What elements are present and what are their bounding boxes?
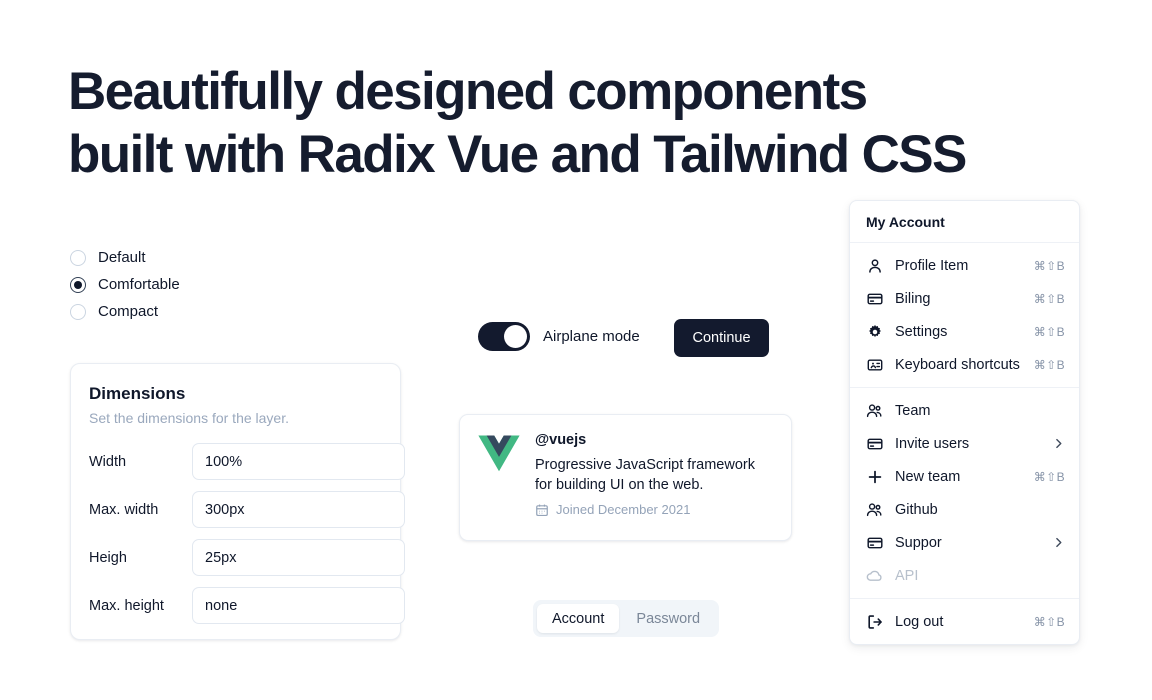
- switch-knob: [504, 325, 527, 348]
- menu-item-team[interactable]: Team: [850, 394, 1079, 427]
- radio-option-label: Comfortable: [98, 276, 180, 293]
- vuejs-joined-row: Joined December 2021: [535, 502, 773, 517]
- dimensions-card-description: Set the dimensions for the layer.: [89, 410, 382, 426]
- credit-card-icon: [866, 534, 883, 551]
- radio-option-default[interactable]: Default: [70, 248, 180, 267]
- field-label: Max. height: [89, 598, 192, 614]
- vuejs-description: Progressive JavaScript framework for bui…: [535, 455, 773, 495]
- plus-icon: [866, 468, 883, 485]
- dimensions-card-title: Dimensions: [89, 384, 382, 404]
- credit-card-icon: [866, 435, 883, 452]
- cloud-icon: [866, 567, 883, 584]
- chevron-right-icon: [1052, 437, 1065, 450]
- dimensions-field-row: Width: [89, 443, 382, 480]
- menu-item-invite-users[interactable]: Invite users: [850, 427, 1079, 460]
- menu-item-settings[interactable]: Settings⌘⇧B: [850, 315, 1079, 348]
- page-title-line-1: Beautifully designed components: [68, 60, 1008, 123]
- account-dropdown-menu: My Account Profile Item⌘⇧BBiling⌘⇧BSetti…: [849, 200, 1080, 645]
- menu-item-shortcut: ⌘⇧B: [1034, 325, 1065, 339]
- dimensions-field-row: Heigh: [89, 539, 382, 576]
- users-icon: [866, 402, 883, 419]
- field-input-max-height[interactable]: [192, 587, 405, 624]
- menu-item-label: Keyboard shortcuts: [895, 357, 1034, 373]
- menu-item-shortcut: ⌘⇧B: [1034, 292, 1065, 306]
- logout-icon: [866, 613, 883, 630]
- field-input-heigh[interactable]: [192, 539, 405, 576]
- menu-item-shortcut: ⌘⇧B: [1034, 470, 1065, 484]
- density-radio-group: DefaultComfortableCompact: [70, 248, 180, 321]
- menu-item-shortcut: ⌘⇧B: [1034, 358, 1065, 372]
- hero-heading: Beautifully designed components built wi…: [68, 60, 1008, 186]
- menu-item-new-team[interactable]: New team⌘⇧B: [850, 460, 1079, 493]
- radio-indicator[interactable]: [70, 277, 86, 293]
- field-input-width[interactable]: [192, 443, 405, 480]
- menu-item-label: Suppor: [895, 535, 1052, 551]
- menu-item-label: Biling: [895, 291, 1034, 307]
- page-title-line-2: built with Radix Vue and Tailwind CSS: [68, 123, 1008, 186]
- chevron-right-icon: [1052, 536, 1065, 549]
- dimensions-field-list: WidthMax. widthHeighMax. height: [89, 443, 382, 624]
- vuejs-hover-card: @vuejs Progressive JavaScript framework …: [459, 414, 792, 541]
- vuejs-joined-text: Joined December 2021: [556, 502, 690, 517]
- radio-option-comfortable[interactable]: Comfortable: [70, 275, 180, 294]
- field-label: Width: [89, 454, 192, 470]
- tab-password[interactable]: Password: [621, 604, 715, 633]
- menu-item-github[interactable]: Github: [850, 493, 1079, 526]
- menu-item-label: Team: [895, 403, 1065, 419]
- field-label: Max. width: [89, 502, 192, 518]
- menu-item-suppor[interactable]: Suppor: [850, 526, 1079, 559]
- menu-item-label: Log out: [895, 614, 1034, 630]
- continue-button[interactable]: Continue: [674, 319, 769, 357]
- menu-group: Profile Item⌘⇧BBiling⌘⇧BSettings⌘⇧BKeybo…: [850, 243, 1079, 387]
- menu-item-label: Profile Item: [895, 258, 1034, 274]
- menu-item-shortcut: ⌘⇧B: [1034, 259, 1065, 273]
- keyboard-icon: [866, 356, 883, 373]
- dimensions-field-row: Max. height: [89, 587, 382, 624]
- airplane-mode-row: Airplane mode: [478, 322, 640, 351]
- radio-dot: [74, 281, 82, 289]
- radio-option-label: Default: [98, 249, 146, 266]
- gear-icon: [866, 323, 883, 340]
- dimensions-card: Dimensions Set the dimensions for the la…: [70, 363, 401, 640]
- menu-item-label: Invite users: [895, 436, 1052, 452]
- radio-indicator[interactable]: [70, 250, 86, 266]
- users-icon: [866, 501, 883, 518]
- radio-option-label: Compact: [98, 303, 158, 320]
- radio-indicator[interactable]: [70, 304, 86, 320]
- page-root: Beautifully designed components built wi…: [0, 0, 1152, 700]
- menu-header-label: My Account: [850, 201, 1079, 242]
- menu-item-shortcut: ⌘⇧B: [1034, 615, 1065, 629]
- page-title: Beautifully designed components built wi…: [68, 60, 1008, 186]
- field-label: Heigh: [89, 550, 192, 566]
- vue-logo-icon: [478, 435, 520, 473]
- airplane-mode-label: Airplane mode: [543, 328, 640, 345]
- calendar-icon: [535, 503, 549, 517]
- menu-item-label: Settings: [895, 324, 1034, 340]
- hover-card-body: @vuejs Progressive JavaScript framework …: [535, 432, 773, 523]
- menu-item-api: API: [850, 559, 1079, 592]
- airplane-mode-switch[interactable]: [478, 322, 530, 351]
- tab-account[interactable]: Account: [537, 604, 619, 633]
- menu-group: TeamInvite usersNew team⌘⇧BGithubSupporA…: [850, 388, 1079, 598]
- settings-tabs: AccountPassword: [533, 600, 719, 637]
- menu-item-label: New team: [895, 469, 1034, 485]
- menu-item-profile-item[interactable]: Profile Item⌘⇧B: [850, 249, 1079, 282]
- menu-item-log-out[interactable]: Log out⌘⇧B: [850, 605, 1079, 638]
- dimensions-field-row: Max. width: [89, 491, 382, 528]
- menu-groups: Profile Item⌘⇧BBiling⌘⇧BSettings⌘⇧BKeybo…: [850, 242, 1079, 644]
- menu-item-biling[interactable]: Biling⌘⇧B: [850, 282, 1079, 315]
- vuejs-handle: @vuejs: [535, 432, 773, 448]
- menu-item-label: Github: [895, 502, 1065, 518]
- field-input-max-width[interactable]: [192, 491, 405, 528]
- menu-item-keyboard-shortcuts[interactable]: Keyboard shortcuts⌘⇧B: [850, 348, 1079, 381]
- menu-group: Log out⌘⇧B: [850, 599, 1079, 644]
- credit-card-icon: [866, 290, 883, 307]
- radio-option-compact[interactable]: Compact: [70, 302, 180, 321]
- menu-item-label: API: [895, 568, 1065, 584]
- user-icon: [866, 257, 883, 274]
